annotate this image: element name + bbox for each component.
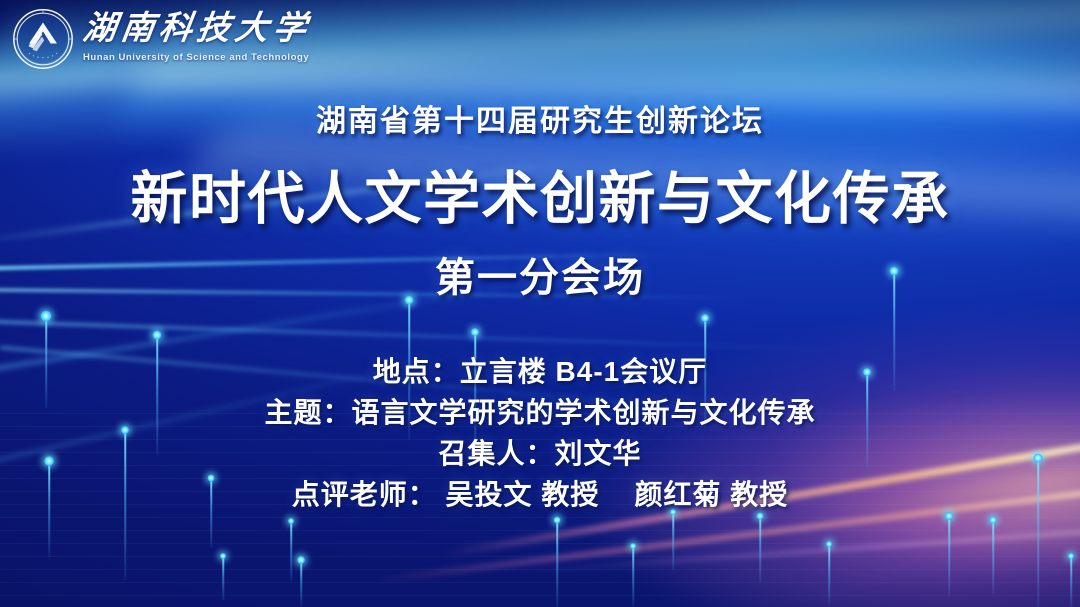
- pin-marker: [218, 556, 228, 600]
- session-info-line: 召集人：刘文华: [0, 434, 1080, 475]
- pin-marker-stem: [556, 520, 558, 607]
- pin-marker-stem: [828, 544, 830, 604]
- pin-marker-dot: [153, 331, 162, 340]
- presentation-slide: 湖南科技大学 Hunan University of Science and T…: [0, 0, 1080, 607]
- pin-marker-dot: [554, 517, 561, 524]
- pin-marker-stem: [759, 516, 761, 582]
- pin-marker-stem: [948, 516, 950, 596]
- slide-background-warm-glow: [0, 0, 1080, 607]
- pin-marker-dot: [826, 541, 832, 547]
- pin-marker: [755, 516, 765, 582]
- pin-marker-dot: [471, 328, 479, 336]
- pin-marker: [824, 544, 834, 604]
- pin-marker-stem: [290, 521, 292, 581]
- page-title: 新时代人文学术创新与文化传承: [0, 153, 1080, 235]
- slide-background-gradient: [0, 0, 1080, 607]
- pin-marker: [552, 520, 562, 607]
- title-block: 湖南省第十四届研究生创新论坛 新时代人文学术创新与文化传承 第一分会场: [0, 96, 1080, 303]
- pin-marker-dot: [701, 314, 709, 322]
- pin-marker: [668, 512, 678, 570]
- pin-marker-dot: [297, 556, 305, 564]
- session-info-block: 地点：立言楼 B4-1会议厅主题：语言文学研究的学术创新与文化传承召集人：刘文华…: [0, 352, 1080, 516]
- hust-circular-emblem: [12, 8, 74, 70]
- session-info-line: 主题：语言文学研究的学术创新与文化传承: [0, 393, 1080, 434]
- pin-marker-stem: [300, 560, 302, 606]
- slide-background-vignette: [0, 0, 1080, 607]
- pin-marker-stem: [222, 556, 224, 600]
- pin-marker: [1066, 556, 1076, 607]
- pin-marker-stem: [632, 546, 634, 606]
- pin-marker-stem: [1070, 556, 1072, 607]
- pin-marker-dot: [288, 518, 294, 524]
- pin-marker: [988, 520, 998, 594]
- forum-kicker-title: 湖南省第十四届研究生创新论坛: [0, 96, 1080, 140]
- pin-marker: [628, 546, 638, 606]
- pin-marker-dot: [990, 517, 997, 524]
- light-beam-3: [0, 319, 842, 351]
- pin-marker-dot: [630, 543, 636, 549]
- university-logo: 湖南科技大学 Hunan University of Science and T…: [12, 8, 311, 70]
- session-subtitle: 第一分会场: [0, 245, 1080, 303]
- pin-marker-stem: [992, 520, 994, 594]
- pin-marker-dot: [41, 311, 52, 322]
- university-name-en: Hunan University of Science and Technolo…: [83, 53, 311, 63]
- session-info-line: 地点：立言楼 B4-1会议厅: [0, 352, 1080, 393]
- pin-marker-dot: [220, 553, 226, 559]
- university-name-cn: 湖南科技大学: [81, 13, 314, 46]
- pin-marker: [944, 516, 954, 596]
- university-logo-text: 湖南科技大学 Hunan University of Science and T…: [83, 13, 311, 65]
- warm-streak-violet: [520, 528, 1080, 573]
- pin-marker: [286, 521, 296, 581]
- pin-marker: [296, 560, 306, 606]
- pin-marker-stem: [672, 512, 674, 570]
- session-info-line: 点评老师： 吴投文 教授 颜红菊 教授: [0, 475, 1080, 516]
- pin-marker-dot: [1068, 553, 1074, 559]
